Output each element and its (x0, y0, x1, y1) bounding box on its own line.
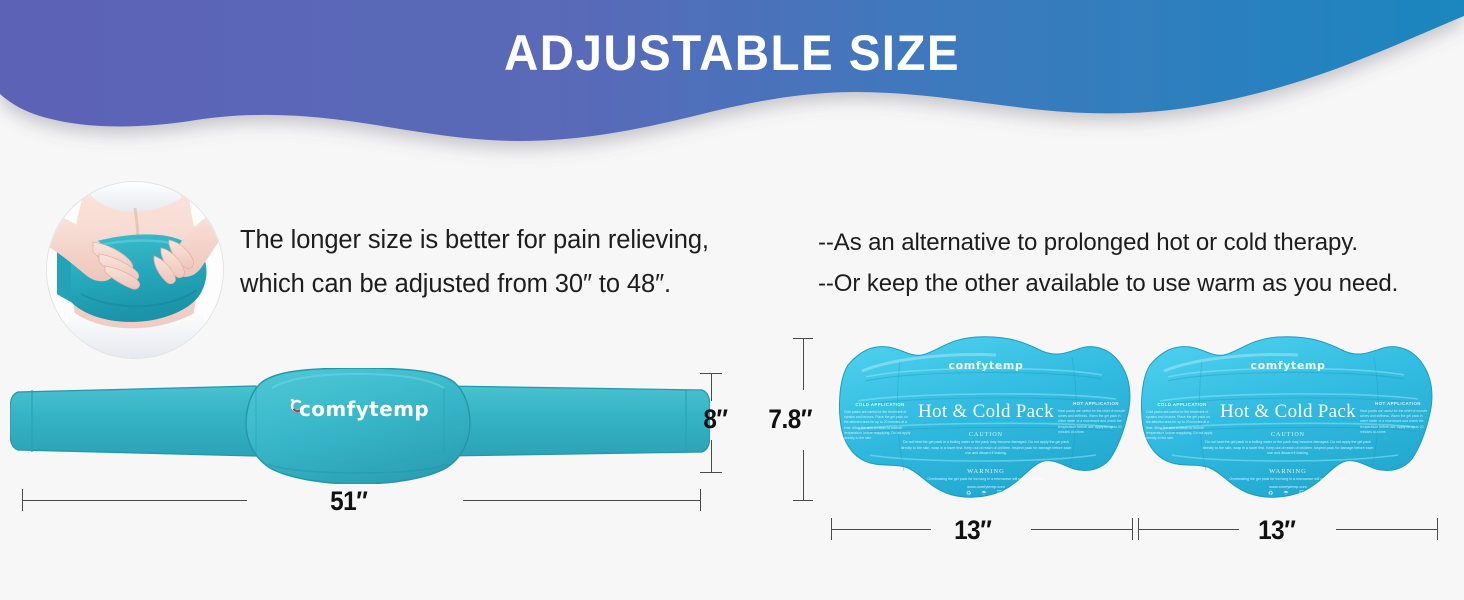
belt-height-line-bottom (711, 440, 712, 472)
right-description-line-2: --Or keep the other available to use war… (818, 263, 1458, 304)
gel-height-tick-bottom (793, 500, 813, 501)
right-description: --As an alternative to prolonged hot or … (818, 222, 1458, 304)
belt-width-tick-right (700, 489, 701, 511)
back-wrap-belt-image (10, 368, 710, 484)
gel-1-width-line-left (831, 529, 931, 530)
gel-1-width-tick-right (1132, 518, 1133, 540)
belt-brand-label: comfytemp (287, 397, 429, 421)
gel-2-width-tick-right (1437, 518, 1438, 540)
gel-height-line-top (803, 338, 804, 390)
belt-width-line-right (463, 500, 700, 501)
left-description-line-1: The longer size is better for pain relie… (240, 218, 760, 262)
gel-2-width-line-right (1336, 529, 1437, 530)
header-banner: ADJUSTABLE SIZE (0, 0, 1464, 175)
page-title: ADJUSTABLE SIZE (37, 26, 1428, 81)
gel-pack-1: comfytemp Hot & Cold Pack COLD APPLICATI… (826, 331, 1146, 503)
belt-height-label: 8″ (703, 404, 727, 435)
belt-brand-text: comfytemp (287, 397, 429, 421)
belt-height-line-top (711, 373, 712, 401)
right-description-line-1: --As an alternative to prolonged hot or … (818, 222, 1458, 263)
gel-2-width-label: 13″ (1258, 515, 1295, 546)
lifestyle-photo (47, 182, 223, 358)
gel-1-width-label: 13″ (954, 515, 991, 546)
belt-width-line-left (22, 500, 247, 501)
infographic-canvas: ADJUSTABLE SIZE (0, 0, 1464, 600)
belt-width-label: 51″ (330, 486, 367, 517)
gel-1-width-line-right (1031, 529, 1132, 530)
gel-pack-2: comfytemp Hot & Cold Pack COLD APPLICATI… (1128, 331, 1448, 503)
gel-height-label: 7.8″ (768, 404, 812, 435)
left-description: The longer size is better for pain relie… (240, 218, 760, 306)
belt-height-tick-bottom (700, 472, 722, 473)
left-description-line-2: which can be adjusted from 30″ to 48″. (240, 262, 760, 306)
gel-2-width-line-left (1138, 529, 1239, 530)
gel-height-line-bottom (803, 450, 804, 500)
